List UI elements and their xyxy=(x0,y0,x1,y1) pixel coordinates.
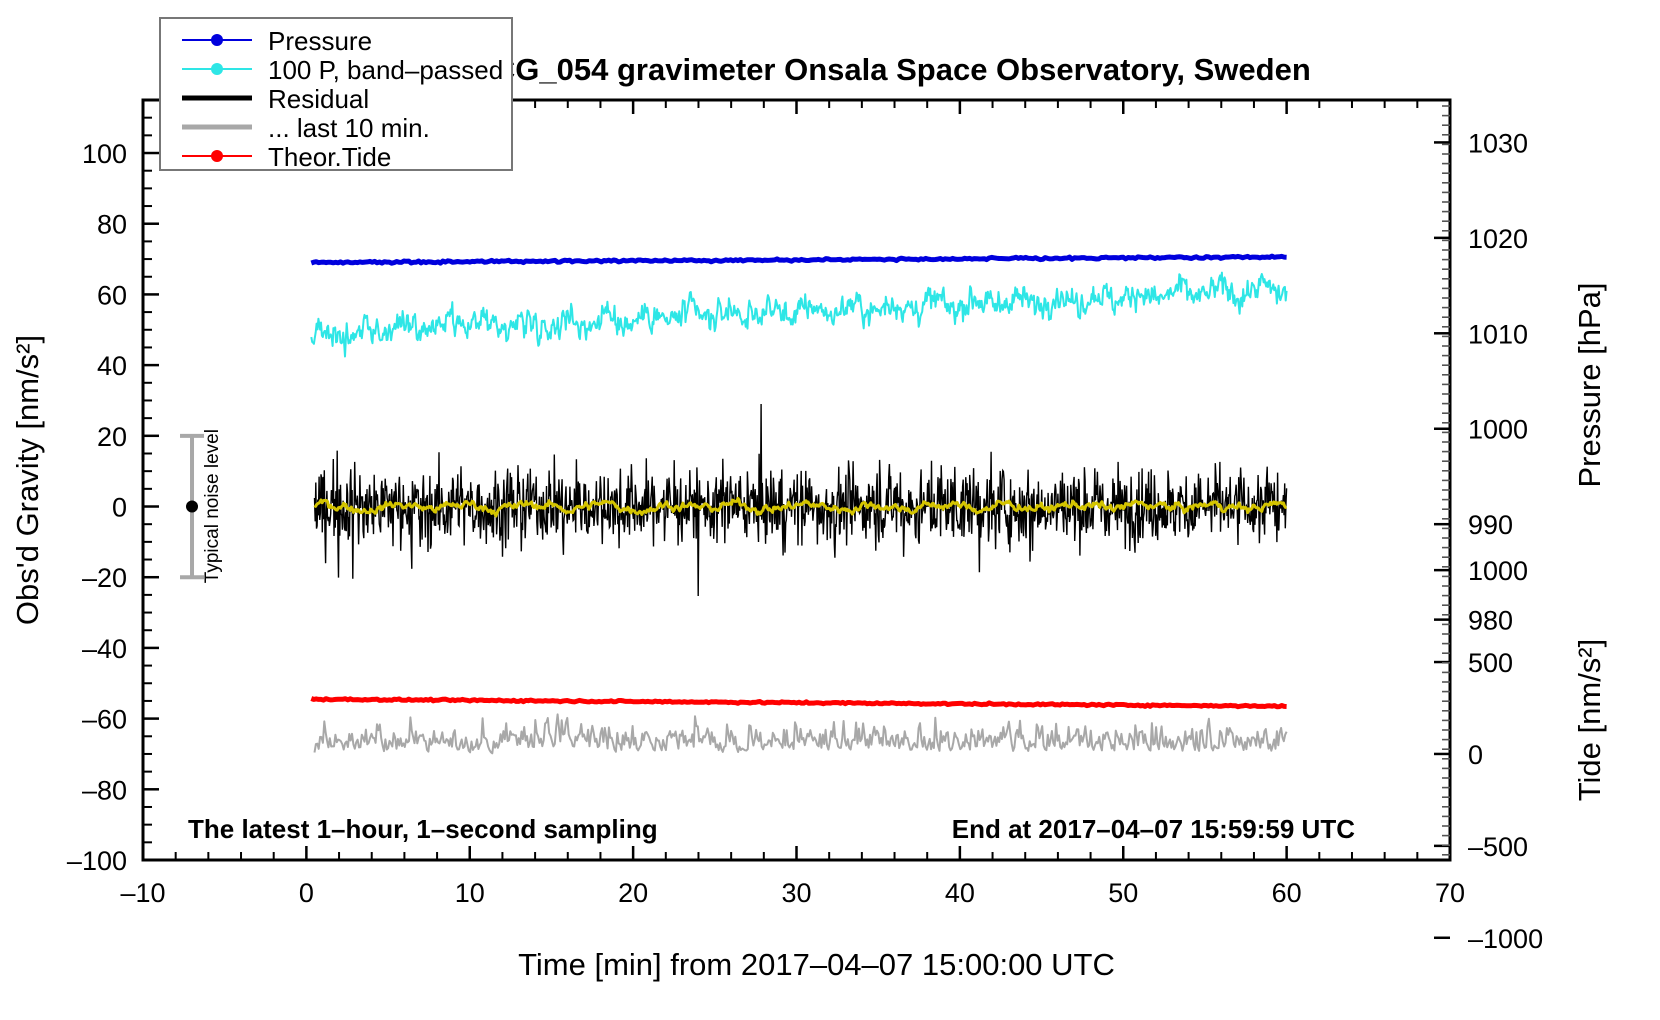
right-axis-title-pressure: Pressure [hPa] xyxy=(1572,282,1607,487)
right-top-tick-label: 1010 xyxy=(1468,319,1528,349)
legend-label-2: Residual xyxy=(268,84,369,114)
x-tick-label: 70 xyxy=(1435,878,1465,908)
series-bandpassed xyxy=(311,273,1286,357)
y-axis-title: Obs'd Gravity [nm/s²] xyxy=(10,335,45,625)
y-tick-label: 0 xyxy=(112,493,127,523)
right-top-tick-label: 980 xyxy=(1468,606,1513,636)
right-top-tick-label: 1020 xyxy=(1468,224,1528,254)
noise-level-label: Typical noise level xyxy=(202,429,223,583)
x-axis-title: Time [min] from 2017–04–07 15:00:00 UTC xyxy=(518,947,1115,982)
right-bottom-tick-label: –1500 xyxy=(1468,1016,1543,1020)
x-tick-label: 10 xyxy=(455,878,485,908)
x-tick-label: 50 xyxy=(1108,878,1138,908)
right-top-tick-label: 1000 xyxy=(1468,415,1528,445)
x-tick-label: 60 xyxy=(1272,878,1302,908)
x-tick-label: –10 xyxy=(120,878,165,908)
noise-bar-dot xyxy=(186,501,198,513)
y-tick-label: 80 xyxy=(97,210,127,240)
x-tick-label: 40 xyxy=(945,878,975,908)
x-tick-label: 20 xyxy=(618,878,648,908)
right-bottom-tick-label: –500 xyxy=(1468,832,1528,862)
right-bottom-tick-label: –1000 xyxy=(1468,924,1543,954)
y-tick-label: –100 xyxy=(67,846,127,876)
y-tick-label: 20 xyxy=(97,422,127,452)
end-time-note: End at 2017–04–07 15:59:59 UTC xyxy=(952,814,1355,844)
legend-label-4: Theor.Tide xyxy=(268,142,391,172)
sampling-note: The latest 1–hour, 1–second sampling xyxy=(188,814,658,844)
y-tick-label: –80 xyxy=(82,775,127,805)
y-tick-label: –60 xyxy=(82,705,127,735)
legend-label-1: 100 P, band–passed xyxy=(268,55,503,85)
y-tick-label: 40 xyxy=(97,351,127,381)
right-top-tick-label: 1030 xyxy=(1468,128,1528,158)
legend-marker-0 xyxy=(211,34,223,46)
legend-marker-1 xyxy=(211,63,223,75)
x-tick-label: 30 xyxy=(781,878,811,908)
series-theor-tide xyxy=(311,699,1286,707)
x-tick-label: 0 xyxy=(299,878,314,908)
y-tick-label: 100 xyxy=(82,139,127,169)
chart-page: –10010203040506070100806040200–20–40–60–… xyxy=(0,0,1660,1020)
gravimeter-chart: –10010203040506070100806040200–20–40–60–… xyxy=(0,0,1660,1020)
series-last-10-min xyxy=(315,714,1287,753)
chart-title: SCG_054 gravimeter Onsala Space Observat… xyxy=(472,52,1311,87)
right-bottom-tick-label: 1000 xyxy=(1468,556,1528,586)
legend-label-3: ... last 10 min. xyxy=(268,113,430,143)
y-tick-label: –20 xyxy=(82,563,127,593)
y-tick-label: 60 xyxy=(97,280,127,310)
right-bottom-tick-label: 0 xyxy=(1468,740,1483,770)
series-residual xyxy=(315,404,1287,596)
right-top-tick-label: 990 xyxy=(1468,510,1513,540)
legend-marker-4 xyxy=(211,150,223,162)
y-tick-label: –40 xyxy=(82,634,127,664)
series-pressure xyxy=(311,256,1286,263)
legend-label-0: Pressure xyxy=(268,26,372,56)
right-bottom-tick-label: 500 xyxy=(1468,648,1513,678)
right-axis-title-tide: Tide [nm/s²] xyxy=(1572,639,1607,802)
